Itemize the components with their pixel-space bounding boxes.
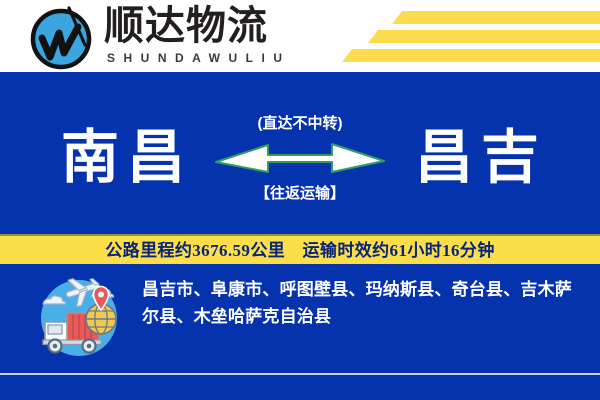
coverage-row: 昌吉市、阜康市、呼图壁县、玛纳斯县、奇台县、吉木萨尔县、木垒哈萨克自治县: [0, 268, 600, 348]
truck-globe-airplane-icon: [33, 272, 125, 364]
brand-logo-group: 顺达物流 SHUNDAWULIU: [28, 4, 291, 71]
brand-name-en: SHUNDAWULIU: [107, 50, 291, 66]
bidirectional-arrow-icon: [214, 140, 386, 176]
distance-duration-text: 公路里程约3676.59公里 运输时效约61小时16分钟: [105, 242, 494, 259]
banner-header: 顺达物流 SHUNDAWULIU: [0, 0, 600, 72]
logistics-route-banner: 顺达物流 SHUNDAWULIU 南昌 (直达不中转) 【往返运输】 昌吉 公: [0, 0, 600, 400]
header-yellow-stripes: [340, 0, 600, 72]
direct-note: (直达不中转): [210, 112, 390, 133]
stripe-3: [342, 49, 600, 62]
stripe-2: [368, 30, 600, 43]
destination-city: 昌吉: [382, 108, 572, 208]
roundtrip-note: 【往返运输】: [210, 182, 390, 203]
bottom-divider: [0, 373, 600, 375]
route-middle: (直达不中转) 【往返运输】: [210, 108, 390, 208]
coverage-areas-text: 昌吉市、阜康市、呼图壁县、玛纳斯县、奇台县、吉木萨尔县、木垒哈萨克自治县: [142, 276, 582, 330]
origin-city: 南昌: [28, 108, 218, 208]
stripe-1: [392, 11, 600, 24]
brand-text-block: 顺达物流 SHUNDAWULIU: [104, 4, 291, 66]
route-row: 南昌 (直达不中转) 【往返运输】 昌吉: [0, 108, 600, 208]
brand-name-cn: 顺达物流: [104, 4, 291, 48]
shunda-circular-w-logo-icon: [28, 5, 94, 71]
distance-duration-bar: 公路里程约3676.59公里 运输时效约61小时16分钟: [0, 234, 600, 264]
